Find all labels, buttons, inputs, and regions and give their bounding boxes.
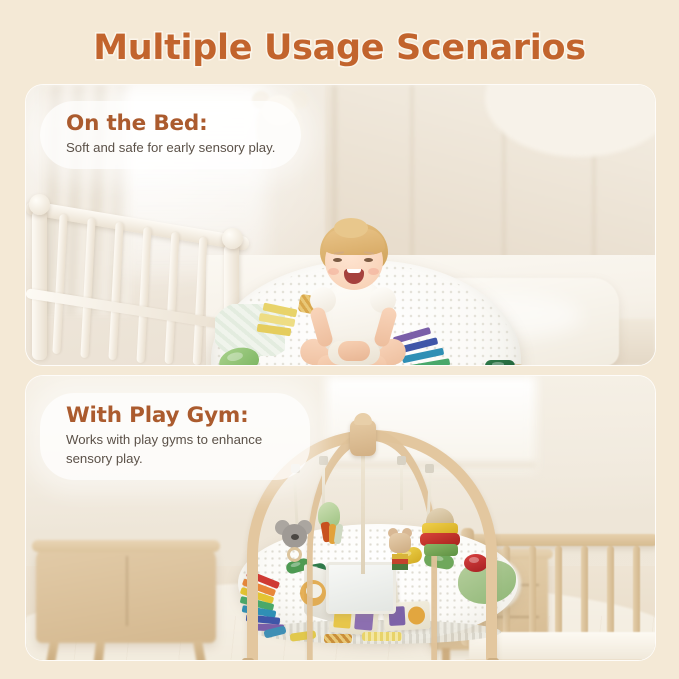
baby-figure	[294, 223, 414, 365]
label-heading: On the Bed:	[66, 112, 275, 136]
label-heading: With Play Gym:	[66, 404, 284, 428]
hanging-bear-toy	[386, 528, 414, 574]
hanging-stacked-toy	[418, 508, 464, 564]
label-with-play-gym: With Play Gym: Works with play gyms to e…	[40, 393, 310, 480]
play-gym-center-bar	[361, 452, 365, 574]
hanging-koala-toy	[277, 520, 311, 554]
page-title: Multiple Usage Scenarios	[0, 28, 679, 68]
label-subtitle: Soft and safe for early sensory play.	[66, 138, 275, 157]
label-subtitle: Works with play gyms to enhance sensory …	[66, 430, 284, 468]
scenario-panel-on-the-bed: On the Bed: Soft and safe for early sens…	[26, 85, 655, 365]
play-gym-hub	[350, 420, 376, 456]
wooden-dresser	[36, 546, 216, 660]
label-on-the-bed: On the Bed: Soft and safe for early sens…	[40, 101, 301, 169]
hanging-leaf-toy	[314, 502, 348, 554]
scenario-panel-with-play-gym: With Play Gym: Works with play gyms to e…	[26, 376, 655, 660]
